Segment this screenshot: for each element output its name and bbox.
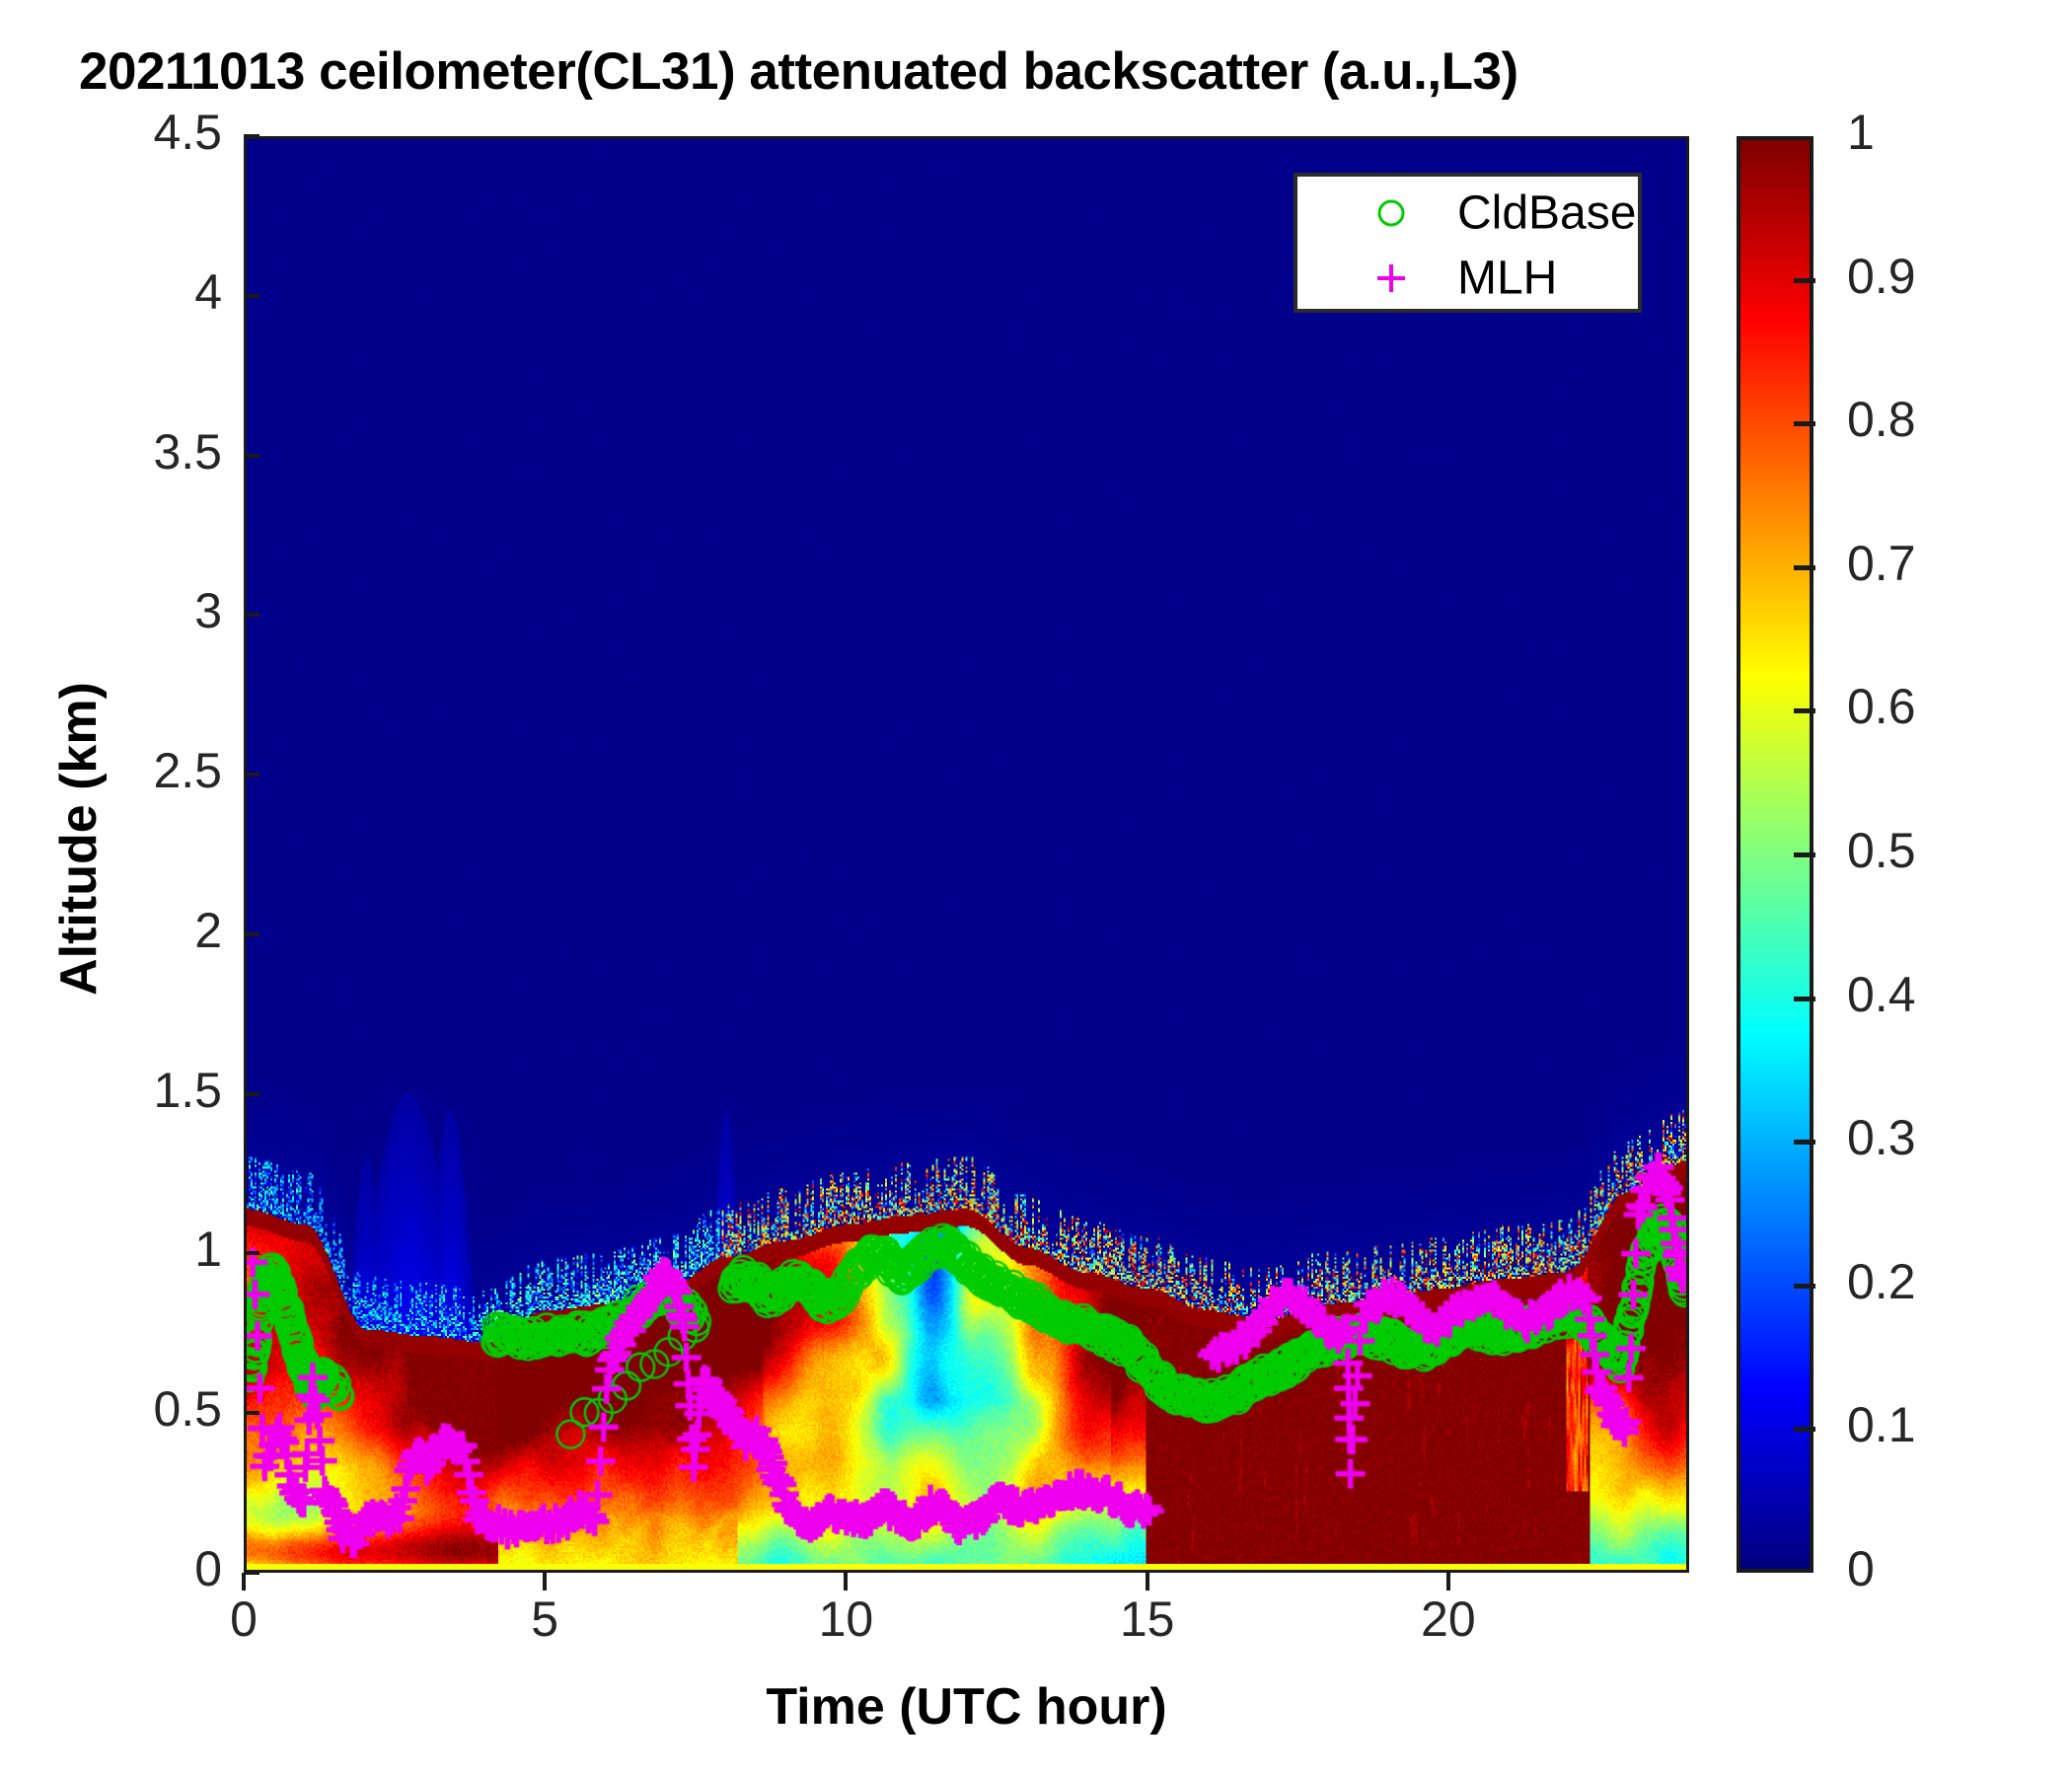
colorbar-tick-label: 0 bbox=[1847, 1540, 1875, 1597]
y-tick-mark bbox=[244, 932, 259, 936]
colorbar-tick-mark bbox=[1794, 278, 1815, 283]
x-tick-label: 20 bbox=[1389, 1591, 1508, 1648]
colorbar-tick-mark bbox=[1794, 997, 1815, 1001]
y-tick-label: 1.5 bbox=[46, 1062, 222, 1119]
legend-entry-cldbase[interactable]: CldBase bbox=[1297, 183, 1638, 244]
legend-label-cldbase: CldBase bbox=[1457, 186, 1636, 241]
y-tick-mark bbox=[244, 134, 259, 138]
colorbar-tick-label: 0.8 bbox=[1847, 391, 1916, 448]
y-tick-mark bbox=[244, 773, 259, 777]
x-tick-mark bbox=[1446, 1573, 1450, 1591]
colorbar-tick-mark bbox=[1794, 1284, 1815, 1289]
legend-entry-mlh[interactable]: MLH bbox=[1297, 248, 1638, 309]
y-tick-label: 2.5 bbox=[46, 742, 222, 799]
y-tick-label: 3 bbox=[46, 582, 222, 639]
colorbar-tick-mark bbox=[1794, 565, 1815, 570]
y-tick-label: 0.5 bbox=[46, 1380, 222, 1438]
y-tick-mark bbox=[244, 1571, 259, 1575]
x-tick-label: 15 bbox=[1088, 1591, 1207, 1648]
x-tick-label: 10 bbox=[786, 1591, 905, 1648]
y-tick-mark bbox=[244, 1411, 259, 1415]
y-tick-mark bbox=[244, 613, 259, 617]
colorbar-tick-label: 0.5 bbox=[1847, 822, 1916, 879]
plot-area[interactable] bbox=[244, 136, 1689, 1573]
colorbar-tick-label: 0.3 bbox=[1847, 1109, 1916, 1166]
x-tick-mark bbox=[543, 1573, 547, 1591]
colorbar-tick-label: 0.9 bbox=[1847, 248, 1916, 305]
y-tick-mark bbox=[244, 294, 259, 298]
legend-box[interactable]: CldBase MLH bbox=[1294, 173, 1642, 313]
colorbar-tick-mark bbox=[1794, 708, 1815, 713]
y-axis-label: Altitude (km) bbox=[49, 562, 109, 1115]
colorbar-tick-label: 0.1 bbox=[1847, 1396, 1916, 1453]
colorbar-tick-mark bbox=[1794, 1140, 1815, 1145]
colorbar-tick-mark bbox=[1794, 421, 1815, 426]
colorbar-tick-label: 1 bbox=[1847, 104, 1875, 161]
plus-marker-icon bbox=[1374, 261, 1408, 295]
x-axis-label: Time (UTC hour) bbox=[244, 1677, 1689, 1737]
y-tick-label: 1 bbox=[46, 1221, 222, 1278]
y-tick-label: 4 bbox=[46, 263, 222, 321]
x-tick-label: 0 bbox=[185, 1591, 303, 1648]
x-tick-mark bbox=[242, 1573, 246, 1591]
y-tick-mark bbox=[244, 454, 259, 458]
colorbar-tick-mark bbox=[1794, 852, 1815, 857]
legend-label-mlh: MLH bbox=[1457, 252, 1557, 306]
colorbar-tick-label: 0.2 bbox=[1847, 1253, 1916, 1310]
colorbar-tick-label: 0.6 bbox=[1847, 678, 1916, 735]
y-tick-mark bbox=[244, 1251, 259, 1255]
y-tick-label: 0 bbox=[46, 1540, 222, 1597]
y-tick-mark bbox=[244, 1092, 259, 1096]
x-tick-mark bbox=[1146, 1573, 1149, 1591]
colorbar-tick-mark bbox=[1794, 1427, 1815, 1432]
page-title: 20211013 ceilometer(CL31) attenuated bac… bbox=[79, 41, 1855, 102]
y-tick-label: 3.5 bbox=[46, 423, 222, 481]
figure-canvas: 20211013 ceilometer(CL31) attenuated bac… bbox=[0, 0, 2072, 1776]
y-tick-label: 4.5 bbox=[46, 104, 222, 161]
x-tick-mark bbox=[844, 1573, 848, 1591]
colorbar-tick-label: 0.4 bbox=[1847, 966, 1916, 1023]
colorbar-tick-label: 0.7 bbox=[1847, 535, 1916, 592]
circle-marker-icon bbox=[1374, 196, 1408, 230]
y-tick-label: 2 bbox=[46, 902, 222, 959]
scatter-overlay bbox=[247, 139, 1686, 1570]
x-tick-label: 5 bbox=[485, 1591, 604, 1648]
